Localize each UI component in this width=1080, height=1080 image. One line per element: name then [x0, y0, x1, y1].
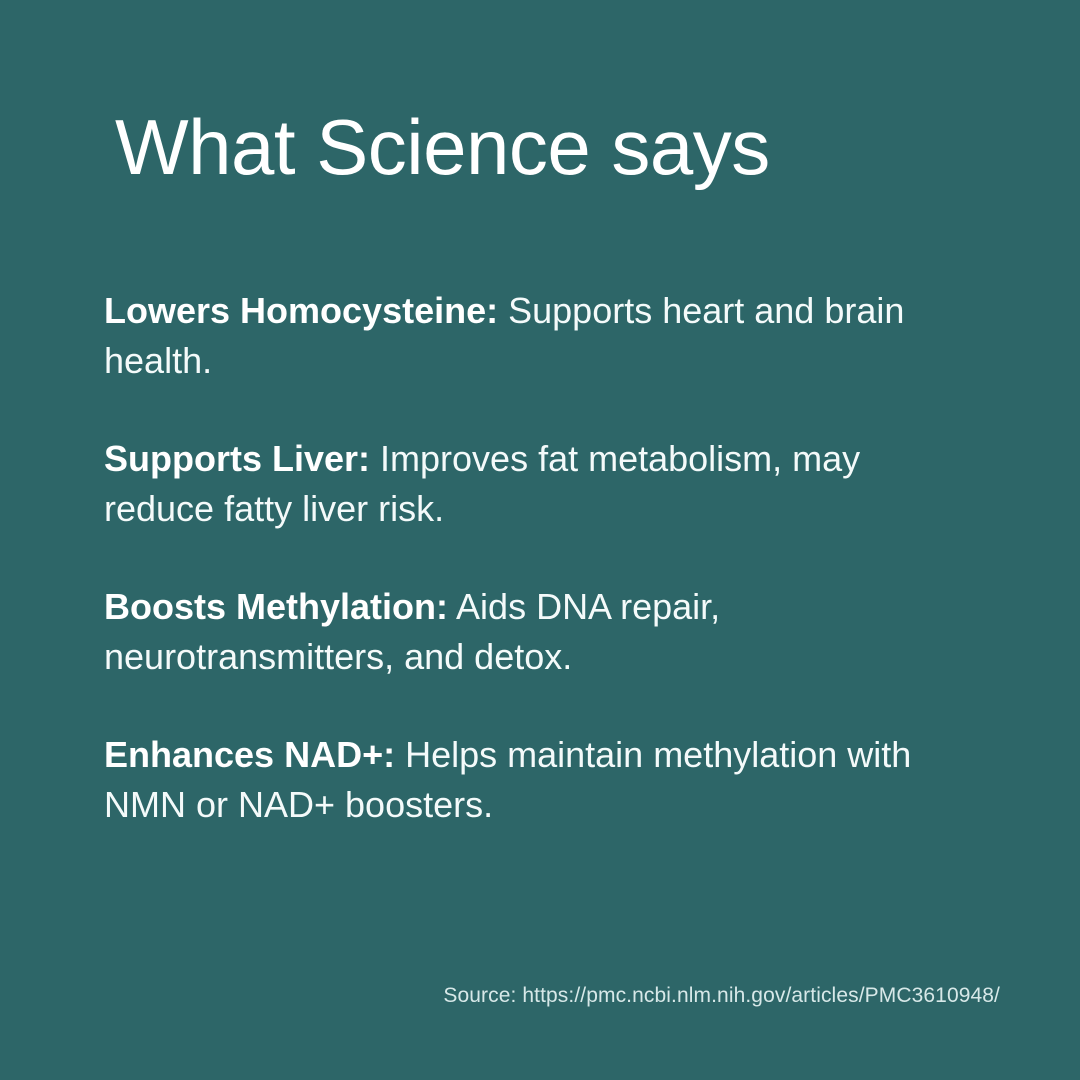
- list-item: Enhances NAD+: Helps maintain methylatio…: [104, 730, 944, 830]
- fact-label: Supports Liver:: [104, 438, 370, 479]
- list-item: Lowers Homocysteine: Supports heart and …: [104, 286, 944, 386]
- fact-label: Enhances NAD+:: [104, 734, 395, 775]
- source-citation: Source: https://pmc.ncbi.nlm.nih.gov/art…: [443, 984, 1000, 1008]
- fact-label: Lowers Homocysteine:: [104, 290, 498, 331]
- list-item: Boosts Methylation: Aids DNA repair, neu…: [104, 582, 944, 682]
- page-title: What Science says: [115, 108, 1015, 186]
- slide-canvas: What Science says Lowers Homocysteine: S…: [0, 0, 1080, 1080]
- fact-label: Boosts Methylation:: [104, 586, 448, 627]
- list-item: Supports Liver: Improves fat metabolism,…: [104, 434, 944, 534]
- facts-list: Lowers Homocysteine: Supports heart and …: [104, 286, 944, 830]
